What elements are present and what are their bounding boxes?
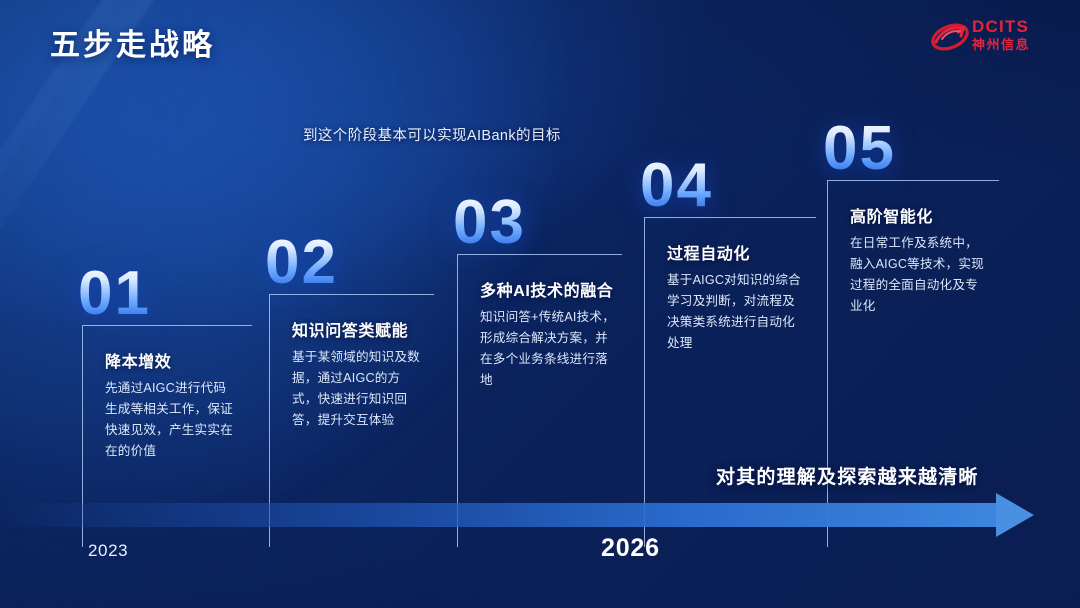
step-title: 知识问答类赋能 xyxy=(292,317,408,341)
stage-note: 到这个阶段基本可以实现AIBank的目标 xyxy=(303,124,561,145)
step-title: 多种AI技术的融合 xyxy=(480,277,613,301)
brand-logo: DCITS 神州信息 xyxy=(930,16,1058,60)
step-number: 04 xyxy=(640,155,713,217)
swoosh-icon xyxy=(930,20,970,54)
step-number: 05 xyxy=(823,118,896,180)
arrow-bar xyxy=(0,503,1000,527)
arrow-label: 对其的理解及探索越来越清晰 xyxy=(716,462,979,489)
step-box: 过程自动化 基于AIGC对知识的综合学习及判断，对流程及决策类系统进行自动化处理 xyxy=(644,217,816,547)
page-title: 五步走战略 xyxy=(50,20,215,64)
step-desc: 在日常工作及系统中，融入AIGC等技术，实现过程的全面自动化及专业化 xyxy=(850,233,988,317)
step-desc: 基于某领域的知识及数据，通过AIGC的方式，快速进行知识回答，提升交互体验 xyxy=(292,347,420,431)
step-number: 01 xyxy=(78,263,151,325)
step-number: 02 xyxy=(265,232,338,294)
step-title: 降本增效 xyxy=(105,348,171,372)
logo-text-en: DCITS xyxy=(972,18,1030,36)
arrow-head-icon xyxy=(996,493,1034,537)
step-desc: 基于AIGC对知识的综合学习及判断，对流程及决策类系统进行自动化处理 xyxy=(667,270,805,354)
logo-text-cn: 神州信息 xyxy=(972,37,1030,53)
timeline-arrow xyxy=(0,499,1080,531)
step-title: 过程自动化 xyxy=(667,240,750,264)
timeline-year-start: 2023 xyxy=(88,541,128,561)
step-desc: 先通过AIGC进行代码生成等相关工作，保证快速见效，产生实实在在的价值 xyxy=(105,378,235,462)
step-desc: 知识问答+传统AI技术，形成综合解决方案，并在多个业务条线进行落地 xyxy=(480,307,620,391)
step-box: 高阶智能化 在日常工作及系统中，融入AIGC等技术，实现过程的全面自动化及专业化 xyxy=(827,180,999,547)
step-number: 03 xyxy=(453,192,526,254)
timeline-year-end: 2026 xyxy=(601,534,660,563)
step-title: 高阶智能化 xyxy=(850,203,933,227)
